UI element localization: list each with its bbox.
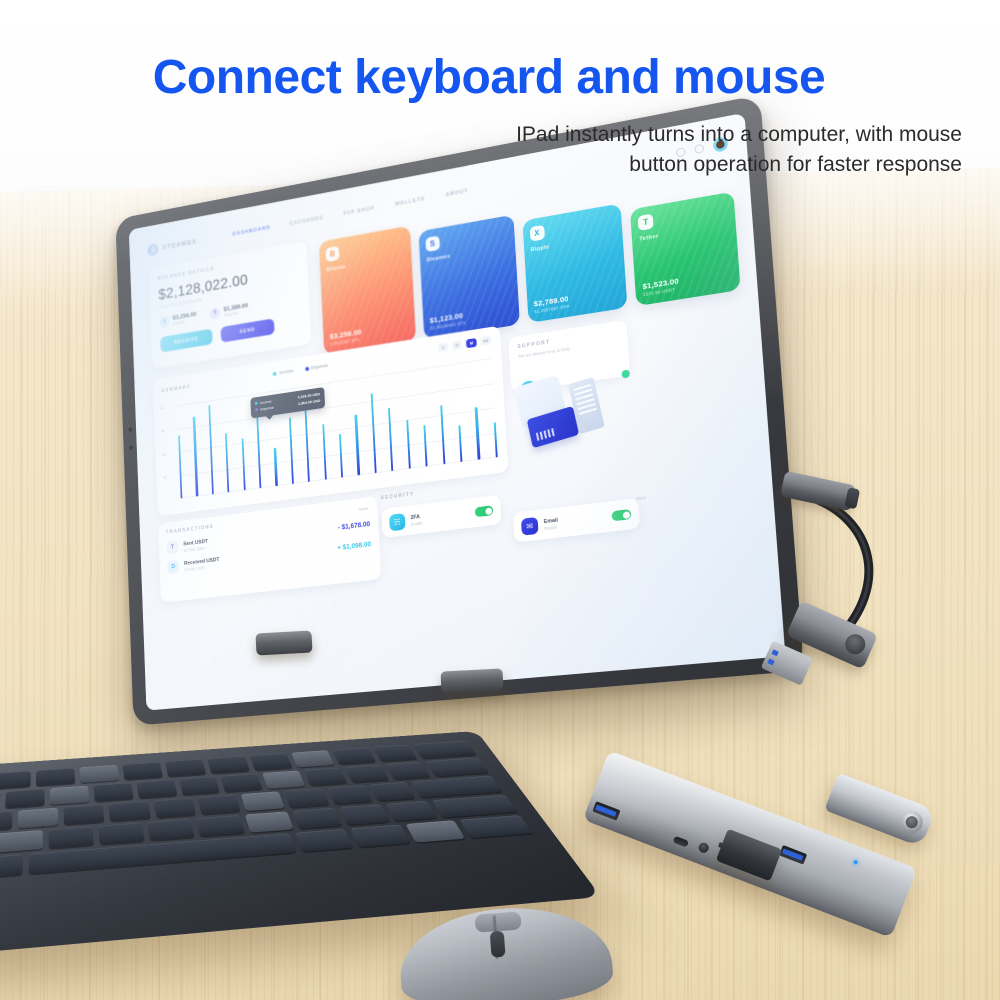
keyboard-key[interactable] [98, 822, 145, 844]
keyboard-key[interactable] [79, 765, 119, 783]
security-row-2fa[interactable]: ☵ 2FA Enable [381, 495, 501, 538]
subtitle-line-2: button operation for faster response [362, 150, 962, 180]
flash-drive-ring [898, 808, 926, 836]
page-title: Connect keyboard and mouse [0, 50, 978, 105]
chart-bar [371, 393, 377, 473]
keyboard-key[interactable] [241, 791, 285, 811]
coin-name: Ripple [530, 233, 616, 253]
chart-bar [388, 407, 393, 471]
keyboard-key[interactable] [221, 773, 263, 792]
coin-amount: $2,789.00 [534, 286, 620, 308]
tablet-ipad[interactable]: STEAMEX DASHBOARD EXCHANGE P2P SHOP WALL… [115, 95, 804, 726]
keyboard-key[interactable] [291, 750, 334, 767]
keyboard-key[interactable] [292, 808, 342, 829]
y-tick-2: 4k [162, 452, 166, 457]
coin-subamount: 22.30140442 STX [430, 313, 512, 331]
y-tick-3: 2k [163, 475, 167, 480]
keyboard-key[interactable] [36, 768, 75, 786]
security-state: Enable [411, 520, 423, 526]
keyboard-key[interactable] [64, 804, 105, 825]
nav-item-p2p-shop[interactable]: P2P SHOP [343, 206, 375, 217]
keyboard-key[interactable] [327, 785, 373, 804]
coin-card-steamex[interactable]: S Steamex $1,123.00 22.30140442 STX [418, 215, 519, 340]
coin-name: Bitcoin [326, 254, 405, 273]
mouse-button-area[interactable] [475, 911, 522, 932]
balance-card: BALANCE DETAILS $2,128,022.00 2.81 BTC E… [148, 241, 311, 370]
chart-bar [355, 415, 360, 476]
nav-item-about[interactable]: ABOUT [445, 188, 468, 198]
nav-item-exchange[interactable]: EXCHANGE [290, 215, 324, 227]
chart-bar [241, 438, 245, 490]
chart-bar [274, 448, 278, 486]
keyboard-key[interactable] [386, 801, 437, 822]
chart-bar [406, 420, 411, 469]
adapter-port-opening [842, 631, 868, 657]
keyboard-key[interactable] [109, 801, 151, 821]
coin-amount: $1,123.00 [429, 303, 511, 325]
legend-expense: Expense [305, 363, 328, 371]
keyboard-key[interactable] [339, 804, 390, 825]
chart-bar [424, 425, 428, 467]
keyboard-key[interactable] [196, 815, 244, 837]
chart-bar [494, 422, 498, 457]
chart-range-selector: D W M 6M [438, 336, 491, 353]
nav-item-wallets[interactable]: WALLETS [395, 196, 426, 207]
security-state: Enable [544, 524, 559, 531]
balance-expense-stat: T $1,389.00 Expense [210, 302, 248, 319]
product-scene: STEAMEX DASHBOARD EXCHANGE P2P SHOP WALL… [0, 0, 1000, 1000]
coin-amount: $1,523.00 [642, 268, 732, 291]
keyboard-key[interactable] [179, 776, 221, 795]
keyboard-key[interactable] [0, 830, 43, 853]
usb-a-port-2[interactable] [779, 845, 807, 865]
income-coin-icon: I [159, 316, 169, 328]
coin-subamount: 51.2807687 XRP [534, 296, 620, 314]
range-month[interactable]: M [466, 338, 477, 348]
chart-bar [440, 405, 445, 464]
range-6month[interactable]: 6M [480, 336, 491, 346]
keyboard-key[interactable] [373, 745, 418, 762]
chart-bar [178, 435, 182, 498]
audio-jack-port[interactable] [697, 841, 710, 854]
keyboard-key[interactable] [207, 756, 249, 774]
tooltip-income-label: Income [260, 399, 272, 405]
keyboard-key[interactable] [345, 765, 389, 783]
transactions-more-link[interactable]: More [359, 506, 368, 512]
chart-bar [208, 405, 214, 494]
bitcoin-icon: B [325, 246, 339, 262]
keyboard-key[interactable] [284, 788, 329, 808]
keyboard-key[interactable] [459, 815, 532, 838]
mouse-scroll-wheel[interactable] [490, 931, 506, 958]
steamex-icon: S [425, 236, 440, 253]
power-led-icon [853, 860, 858, 865]
coin-amount: $3,256.00 [330, 320, 409, 341]
keyboard-key[interactable] [18, 808, 59, 829]
toggle-email[interactable] [611, 509, 631, 521]
keyboard-key[interactable] [249, 753, 292, 771]
keyboard-key[interactable] [432, 795, 517, 818]
security-more-link[interactable]: More [636, 495, 647, 501]
keyboard-key[interactable] [165, 759, 206, 777]
keyboard-key[interactable] [0, 854, 23, 879]
stand-clip-left [255, 631, 312, 656]
usb-c-port[interactable] [673, 836, 690, 848]
security-row-email[interactable]: ✉ Email Enable [513, 498, 640, 543]
keyboard-key[interactable] [304, 767, 348, 785]
keyboard-key[interactable] [332, 747, 376, 764]
coin-name: Steamex [426, 244, 508, 264]
transaction-amount: - $1,678.00 [338, 521, 371, 532]
keyboard-key[interactable] [263, 770, 306, 788]
keyboard-key[interactable] [93, 783, 133, 802]
chart-bar [322, 424, 327, 480]
keyboard-key[interactable] [122, 762, 163, 780]
chart-bar [339, 434, 343, 478]
chart-legend: Income Expense [273, 363, 328, 376]
coin-card-tether[interactable]: T Tether $1,523.00 1523.90 USDT [630, 191, 740, 306]
keyboard-key[interactable] [411, 776, 503, 798]
keyboard-key[interactable] [413, 741, 476, 759]
keyboard-key[interactable] [350, 825, 409, 848]
chart-bar [225, 433, 229, 492]
keyboard-key[interactable] [295, 829, 354, 852]
security-name: 2FA [410, 514, 420, 521]
coin-name: Tether [639, 222, 728, 243]
transactions-card: TRANSACTIONS More T Sent USDT 23 Feb, 20… [158, 496, 381, 603]
coin-card-ripple[interactable]: X Ripple $2,789.00 51.2807687 XRP [522, 203, 628, 323]
keyboard-key[interactable] [369, 782, 415, 801]
y-tick-1: 6k [161, 429, 165, 434]
toggle-2fa[interactable] [475, 505, 494, 517]
legend-expense-label: Expense [311, 363, 328, 370]
legend-income: Income [273, 368, 293, 376]
received-usdt-icon: D [167, 560, 179, 574]
keyboard-key[interactable] [197, 795, 241, 815]
tooltip-expense-value: 1,864.30 USD [298, 398, 321, 406]
ripple-icon: X [529, 225, 544, 242]
y-tick-0: 8k [160, 406, 164, 411]
range-week[interactable]: W [452, 340, 463, 350]
range-day[interactable]: D [438, 342, 449, 352]
receive-button[interactable]: RECEIVE [160, 329, 213, 353]
keyboard-key[interactable] [136, 779, 177, 798]
usb-a-port-1[interactable] [592, 801, 620, 821]
chart-bar [458, 425, 462, 462]
transaction-amount: + $1,098.00 [337, 541, 371, 552]
coin-card-bitcoin[interactable]: B Bitcoin $3,256.00 0.3012807 BTC [319, 226, 416, 355]
stand-clip-right [440, 668, 503, 693]
brand-name: STEAMEX [162, 238, 197, 251]
keyboard-key[interactable] [426, 758, 489, 777]
keyboard-key[interactable] [153, 798, 196, 818]
illustration-dot [621, 369, 630, 378]
keyboard-key[interactable] [50, 786, 89, 805]
keyboard-key[interactable] [0, 811, 13, 832]
keyboard-key[interactable] [5, 789, 45, 809]
sent-usdt-icon: T [166, 541, 178, 555]
page-subtitle: IPad instantly turns into a computer, wi… [362, 120, 962, 180]
send-button[interactable]: SEND [221, 318, 275, 342]
brand-logo[interactable]: STEAMEX [147, 236, 197, 257]
balance-income-stat: I $3,256.00 Income [159, 311, 197, 328]
tether-icon: T [638, 214, 654, 231]
fingerprint-icon: ☵ [389, 513, 406, 531]
tablet-assembly: STEAMEX DASHBOARD EXCHANGE P2P SHOP WALL… [96, 140, 816, 720]
brand-mark-icon [147, 243, 158, 257]
keyboard-key[interactable] [244, 811, 293, 832]
chart-bar [256, 415, 261, 489]
keyboard-key[interactable] [0, 771, 30, 790]
subtitle-line-1: IPad instantly turns into a computer, wi… [362, 120, 962, 150]
nav-item-dashboard[interactable]: DASHBOARD [232, 225, 270, 237]
support-illustration [515, 363, 650, 466]
keyboard-key[interactable] [405, 820, 465, 842]
summary-section-label: SUMMARY [161, 384, 191, 394]
legend-income-label: Income [279, 368, 293, 375]
envelope-icon: ✉ [521, 516, 539, 535]
chart-bar [193, 417, 198, 497]
keyboard-key[interactable] [147, 819, 194, 841]
tooltip-expense-label: Expense [260, 405, 274, 412]
coin-subamount: 1523.90 USDT [643, 278, 733, 297]
expense-coin-icon: T [210, 307, 221, 320]
chart-bar [289, 417, 294, 484]
chart-bar [475, 407, 480, 459]
keyboard-key[interactable] [48, 826, 94, 848]
keyboard-key[interactable] [386, 762, 431, 780]
